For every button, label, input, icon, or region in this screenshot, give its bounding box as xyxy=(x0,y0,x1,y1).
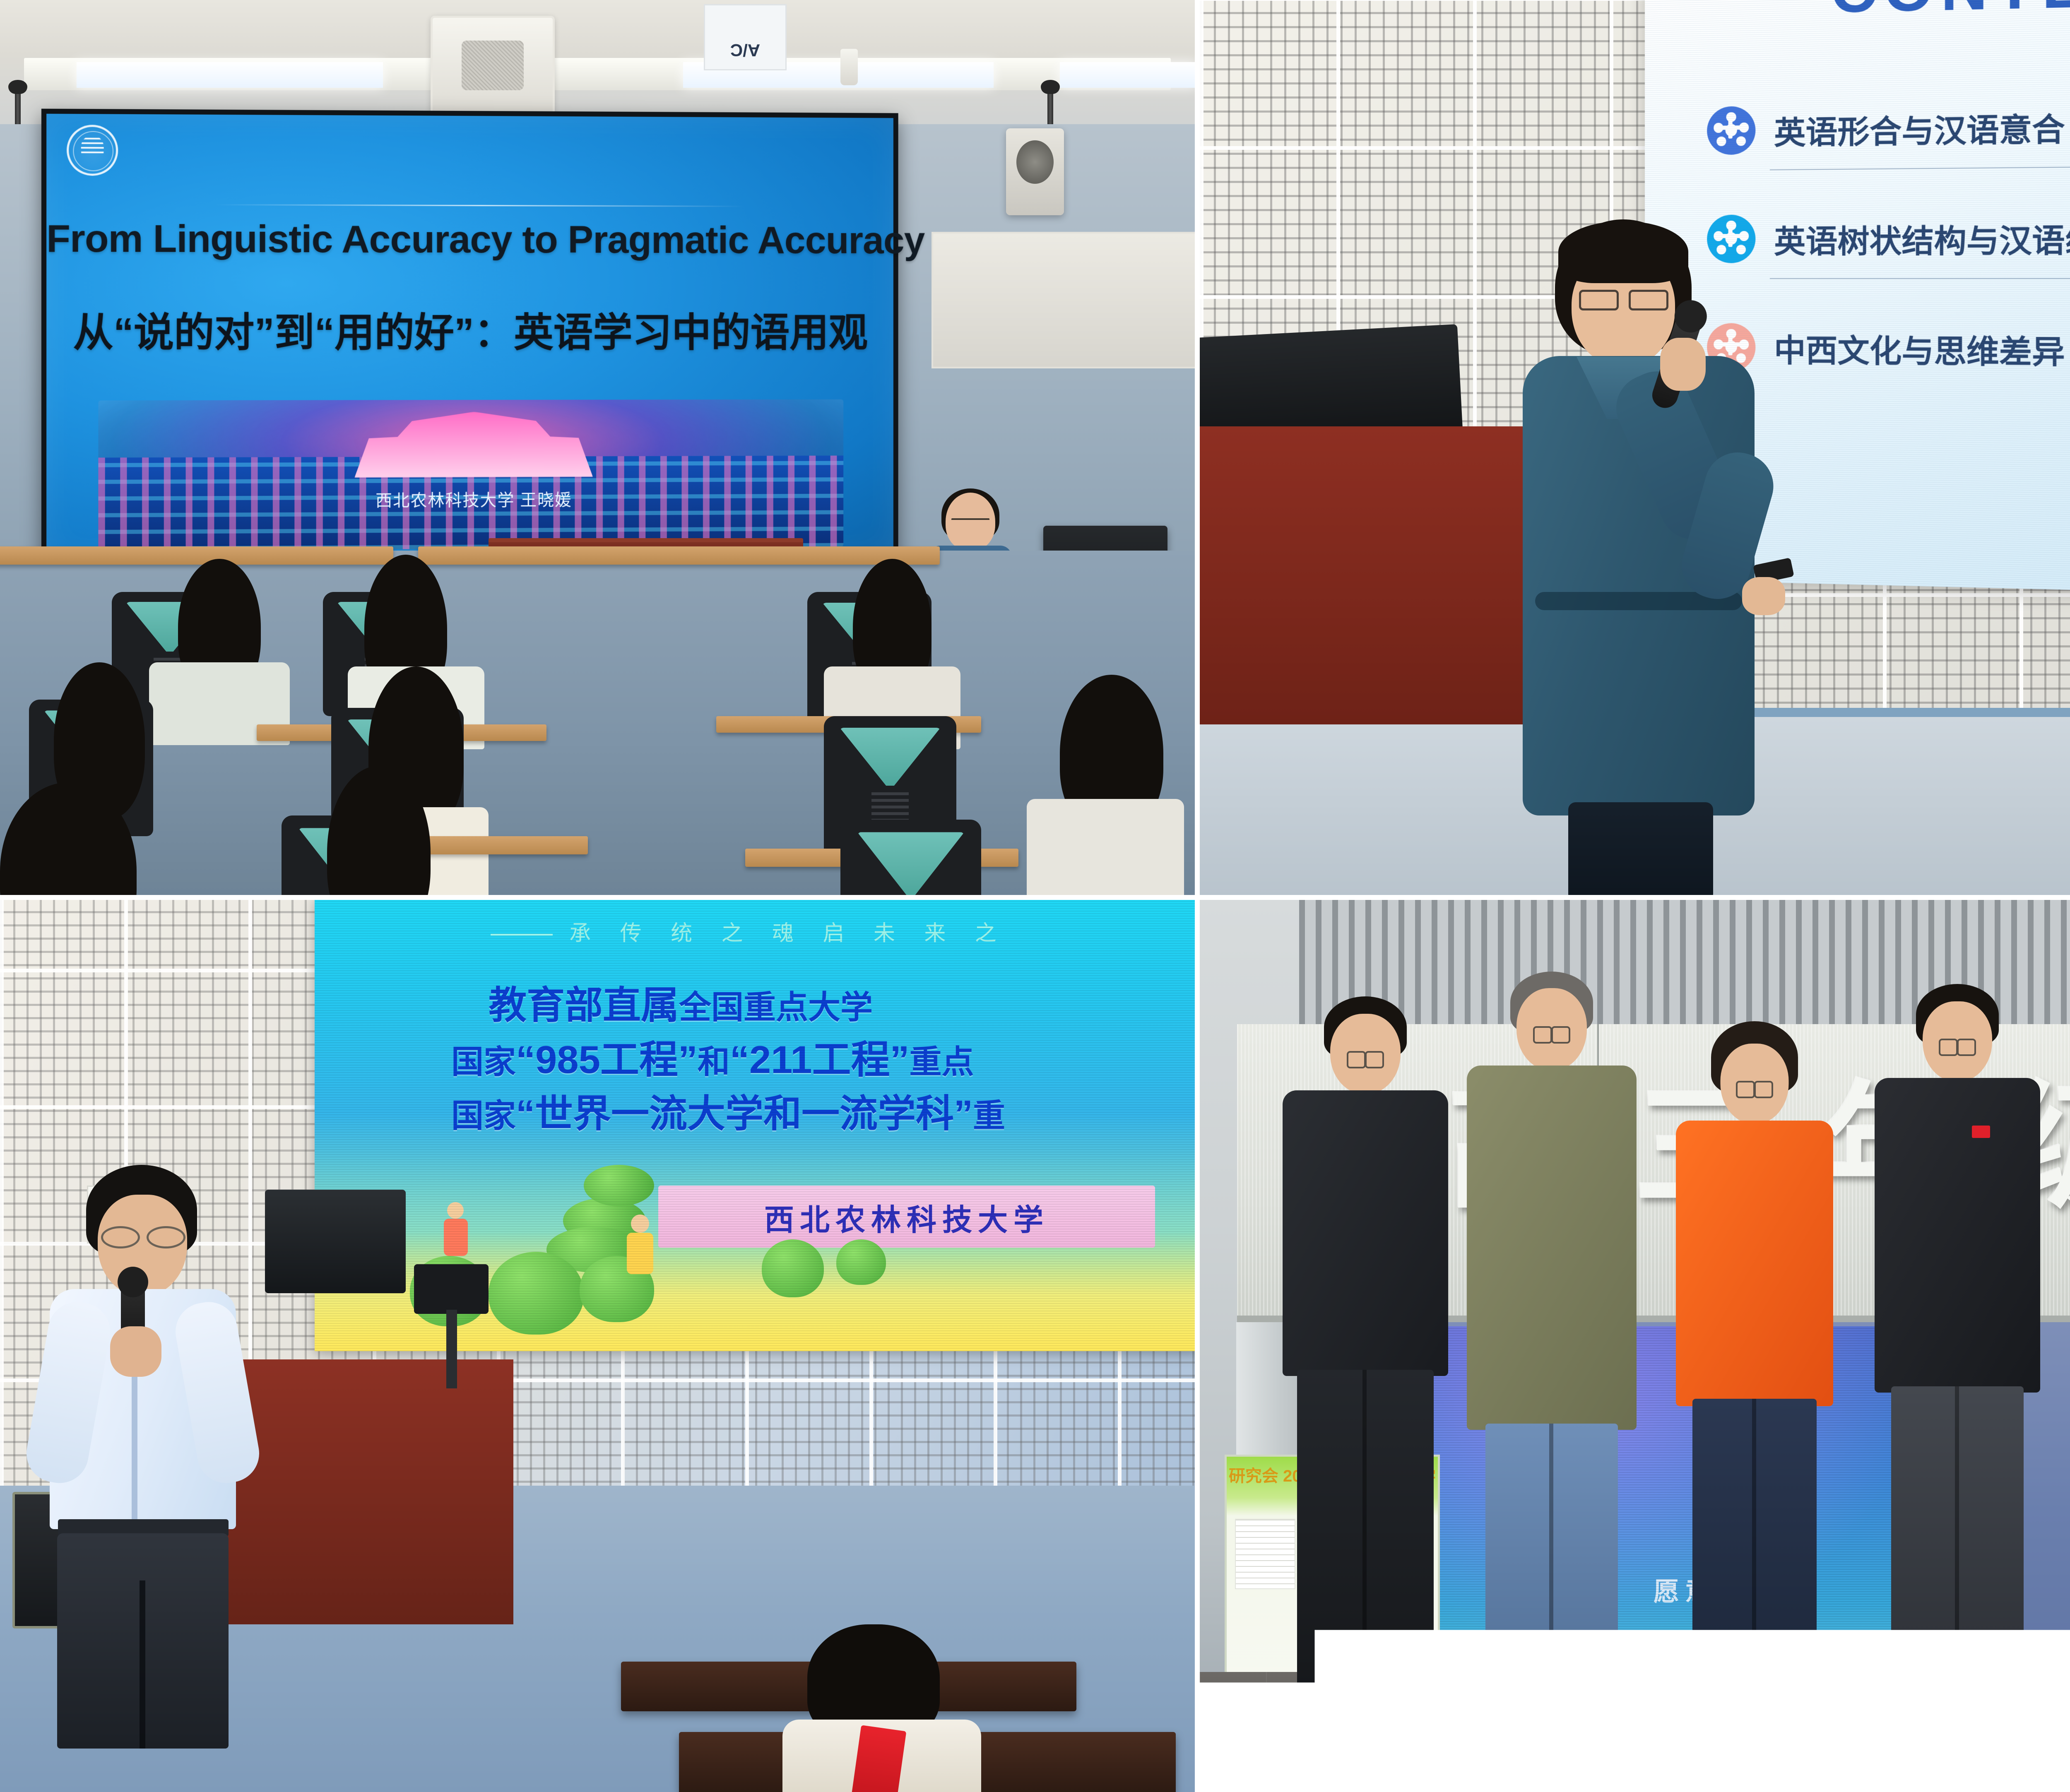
group-person-2 xyxy=(1465,977,1639,1730)
student-presenter xyxy=(33,1165,257,1744)
contents-item-1: 英语形合与汉语意合 xyxy=(1707,102,2065,155)
slide-campus-image xyxy=(98,399,843,551)
air-conditioner-vent xyxy=(431,16,555,115)
wall-speaker xyxy=(1006,128,1064,215)
contents-item-label: 英语形合与汉语意合 xyxy=(1774,103,2065,153)
projection-screen: From Linguistic Accuracy to Pragmatic Ac… xyxy=(41,109,898,565)
ceiling-light-3 xyxy=(1060,62,1195,88)
speaker-glasses xyxy=(1579,290,1668,306)
person-shoe-right xyxy=(1591,1727,1641,1746)
led-line-2-mid: 和 xyxy=(698,1044,730,1080)
teacher-glasses xyxy=(951,518,989,527)
tagline-dash xyxy=(491,934,553,936)
speaker-legs xyxy=(1568,802,1713,895)
panel-lecture-hall: A/C From Linguistic Accuracy to Pragmati… xyxy=(0,0,1195,895)
person-glasses xyxy=(1347,1051,1384,1065)
lectern xyxy=(215,1359,513,1624)
presenter-hand xyxy=(110,1326,161,1377)
led-line-2-prefix: 国家 xyxy=(451,1044,516,1080)
contents-item-label: 英语树状结构与汉语线性结构 xyxy=(1774,214,2070,262)
led-line-2-suffix: 重点 xyxy=(910,1044,974,1080)
person-jacket xyxy=(1875,1078,2040,1393)
illustration-campus-wall: 西北农林科技大学 xyxy=(658,1186,1155,1248)
illustration-bush xyxy=(580,1256,654,1322)
stage-monitor xyxy=(265,1190,406,1293)
panel-group-photo: 高三年级 愿意送 研究会 2026届高三年级入学 研究会 2026届高三年级入学 xyxy=(1200,900,2070,1792)
led-line-3-prefix: 国家 xyxy=(451,1097,516,1134)
illustration-person xyxy=(439,1202,472,1268)
led-line-1: 教育部直属全国重点大学 xyxy=(489,974,873,1029)
contents-heading: CONTENTS xyxy=(1645,0,2070,31)
speaker-hand-mic xyxy=(1660,338,1706,391)
tagline-text: 承 传 统 之 魂 启 未 来 之 xyxy=(569,921,1008,945)
slide-title-chinese: 从“说的对”到“用的好”：英语学习中的语用观 xyxy=(46,300,893,358)
contents-divider-1 xyxy=(1770,164,2070,170)
camera-stand xyxy=(446,1310,457,1388)
presenter-trousers xyxy=(57,1533,229,1749)
ceiling-sensor xyxy=(840,49,858,85)
led-line-2-quote-2: “211工程” xyxy=(730,1038,910,1081)
illustration-bush xyxy=(489,1252,584,1335)
student-seating-area xyxy=(0,551,1195,895)
person-blazer xyxy=(1676,1121,1833,1406)
group-person-1 xyxy=(1278,1001,1452,1730)
illustration-bush xyxy=(762,1239,824,1297)
speaker-hand-clicker xyxy=(1742,577,1785,615)
led-line-3: 国家“世界一流大学和一流学科”重 xyxy=(451,1083,1005,1138)
speaker-fringe xyxy=(1558,221,1688,283)
contents-item-label: 中西文化与思维差异 xyxy=(1774,325,2065,373)
illustration-wall-text: 西北农林科技大学 xyxy=(658,1195,1155,1239)
chair xyxy=(840,820,981,895)
person-shoe-right xyxy=(1997,1727,2047,1746)
camera-icon xyxy=(414,1264,489,1314)
led-line-2: 国家“985工程”和“211工程”重点 xyxy=(451,1028,974,1085)
person-shoe-left xyxy=(1462,1727,1512,1746)
slide-author-line: 西北农林科技大学 王晓媛 xyxy=(46,485,893,512)
person-jacket xyxy=(1283,1090,1448,1376)
person-glasses xyxy=(1736,1081,1773,1095)
slide-divider-rule xyxy=(214,204,744,207)
dais-desk-right xyxy=(418,546,940,565)
person-shoe-left xyxy=(1868,1727,1918,1746)
camera-rig xyxy=(414,1264,501,1388)
panel-gutter-horizontal xyxy=(0,895,2070,900)
student-body xyxy=(1027,799,1184,895)
led-line-3-quote: “世界一流大学和一流学科” xyxy=(516,1093,973,1135)
person-shoe-left xyxy=(1669,1727,1719,1746)
person-shoe-left xyxy=(1276,1727,1326,1746)
person-trousers xyxy=(1891,1386,2024,1709)
illustration-person xyxy=(621,1215,658,1289)
photo-collage: A/C From Linguistic Accuracy to Pragmati… xyxy=(0,0,2070,1792)
ac-ceiling-sign: A/C xyxy=(704,4,787,70)
ceiling-light-1 xyxy=(77,62,383,88)
speaker-woman xyxy=(1506,219,1771,895)
led-line-1-rest: 全国重点大学 xyxy=(679,989,873,1025)
panel-student-presenter: 承 传 统 之 魂 启 未 来 之 教育部直属全国重点大学 国家“985工程”和… xyxy=(0,900,1195,1792)
lectern xyxy=(1200,426,1523,724)
presenter-glasses xyxy=(101,1226,185,1244)
network-node-icon xyxy=(1707,106,1755,155)
person-coat xyxy=(1467,1066,1637,1430)
led-line-1-bold: 教育部直属 xyxy=(489,984,679,1027)
person-shoe-right xyxy=(1405,1727,1455,1746)
led-line-3-suffix: 重 xyxy=(973,1097,1005,1134)
group-person-4 xyxy=(1870,989,2044,1730)
contents-divider-2 xyxy=(1770,278,2070,279)
person-glasses xyxy=(1939,1039,1976,1053)
person-trousers xyxy=(1692,1399,1817,1730)
person-jeans xyxy=(1485,1424,1618,1713)
national-flag-pin xyxy=(1972,1126,1990,1138)
illustration-tree xyxy=(546,1148,679,1272)
person-shoe-right xyxy=(1790,1727,1840,1746)
led-line-2-quote-1: “985工程” xyxy=(516,1038,698,1081)
illustration-bush xyxy=(836,1239,886,1285)
slide-title-english: From Linguistic Accuracy to Pragmatic Ac… xyxy=(46,216,893,262)
led-tagline: 承 传 统 之 魂 启 未 来 之 xyxy=(439,916,1060,947)
dais-desk-left xyxy=(0,546,393,565)
person-trousers xyxy=(1297,1370,1434,1713)
wall-panel xyxy=(931,232,1195,368)
panel-speaker-contents: CONTENTS 英语形合与汉语意合 英语树状结构与汉语线性结构 xyxy=(1200,0,2070,895)
group-person-3 xyxy=(1672,1026,1837,1730)
university-seal-logo xyxy=(67,125,118,176)
person-glasses xyxy=(1533,1026,1570,1040)
audience-student xyxy=(758,1624,1014,1792)
